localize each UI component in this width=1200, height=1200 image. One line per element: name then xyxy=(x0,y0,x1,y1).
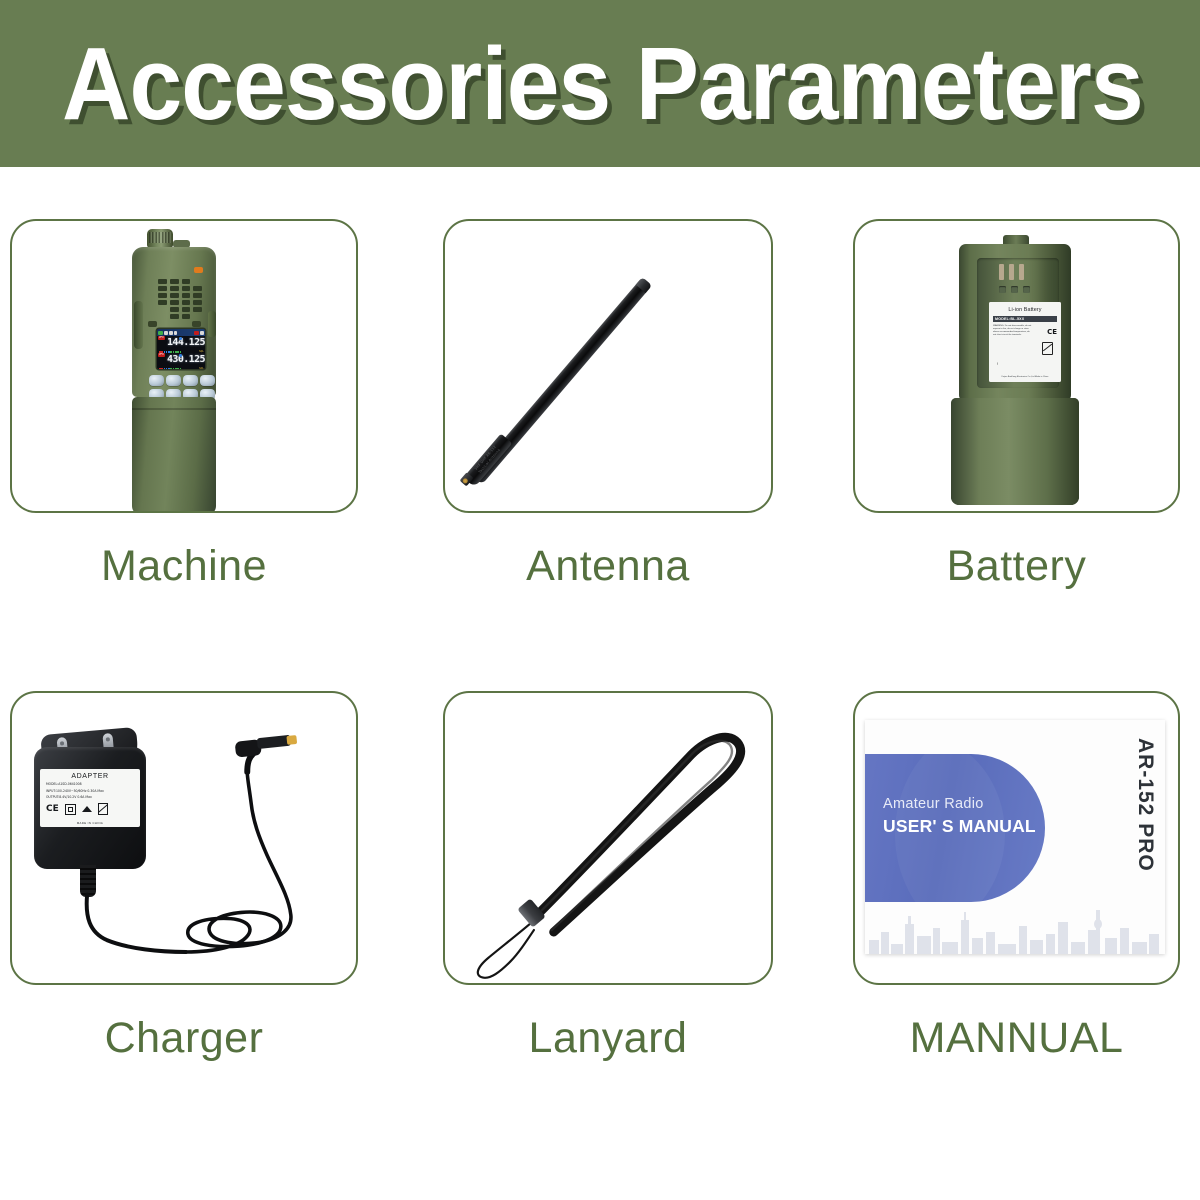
charger-cable xyxy=(12,693,356,984)
wrist-lanyard-icon xyxy=(445,693,771,983)
manual-cover-title: USER' S MANUAL xyxy=(883,816,1036,837)
handheld-radio-icon: VFO 144.12500 SQL VFO xyxy=(124,229,228,513)
li-ion-battery-icon: Li-ion Battery MODEL:BL-5XX WARNING: Do … xyxy=(951,235,1079,505)
user-manual-icon: Amateur Radio USER' S MANUAL AR-152 PRO xyxy=(865,720,1165,954)
vfo-a-tag: VFO xyxy=(158,336,165,340)
charger-illustration: ADAPTER MODEL:A1SD-0641008 INPUT:100-240… xyxy=(12,693,356,983)
accessory-card-battery[interactable]: Li-ion Battery MODEL:BL-5XX WARNING: Do … xyxy=(853,219,1180,513)
battery-illustration: Li-ion Battery MODEL:BL-5XX WARNING: Do … xyxy=(855,221,1178,511)
accessory-label-manual: MANNUAL xyxy=(853,1017,1180,1060)
battery-label-footer: Fujian BaoFeng Electronics Co.,Ltd Made … xyxy=(989,376,1061,379)
battery-vent-holes xyxy=(999,286,1030,293)
side-button-right xyxy=(208,311,216,337)
radio-lcd-screen: VFO 144.12500 SQL VFO xyxy=(157,329,205,369)
accessory-cell-antenna: VHF UHF AR-152 Tactical Antenna Antenna xyxy=(430,219,790,588)
accessory-card-antenna[interactable]: VHF UHF AR-152 Tactical Antenna xyxy=(443,219,773,513)
volume-knob xyxy=(147,229,173,248)
power-adapter-icon: ADAPTER MODEL:A1SD-0641008 INPUT:100-240… xyxy=(12,693,356,983)
weee-bin-icon xyxy=(1042,342,1053,355)
antenna-illustration: VHF UHF AR-152 Tactical Antenna xyxy=(445,221,771,511)
status-bar xyxy=(157,329,205,336)
skyline-graphic xyxy=(865,906,1165,954)
accessories-grid: VFO 144.12500 SQL VFO xyxy=(0,167,1200,1200)
accessory-card-charger[interactable]: ADAPTER MODEL:A1SD-0641008 INPUT:100-240… xyxy=(10,691,358,985)
key-exit xyxy=(200,375,215,386)
side-button-left xyxy=(134,301,143,349)
battery-label-title: Li-ion Battery xyxy=(989,307,1061,313)
vfo-b-frequency: 430.12550 xyxy=(167,354,205,365)
key-menu xyxy=(149,375,164,386)
tactical-antenna-icon: VHF UHF AR-152 Tactical Antenna xyxy=(445,221,771,511)
vfo-b-tag: VFO xyxy=(158,353,165,357)
screw-tab-left xyxy=(148,321,157,327)
vfo-b-squelch: SQL xyxy=(199,366,204,370)
vfo-a-squelch: SQL xyxy=(199,349,204,353)
key-down xyxy=(183,375,198,386)
battery-spec-label: Li-ion Battery MODEL:BL-5XX WARNING: Do … xyxy=(989,302,1061,382)
accessory-label-battery: Battery xyxy=(853,545,1180,588)
accessory-cell-lanyard: Lanyard xyxy=(430,691,790,1060)
page-title: Accessories Parameters xyxy=(62,32,1143,135)
battery-label-model: MODEL:BL-5XX xyxy=(993,316,1057,322)
manual-cover-subtitle: Amateur Radio xyxy=(883,796,984,812)
radio-battery-pack xyxy=(132,397,216,513)
manual-illustration: Amateur Radio USER' S MANUAL AR-152 PRO xyxy=(855,693,1178,983)
accessory-label-machine: Machine xyxy=(10,545,358,588)
vfo-a-frequency: 144.12500 xyxy=(167,337,205,348)
ce-mark-icon: CE xyxy=(1047,328,1057,336)
key-up xyxy=(166,375,181,386)
vfo-b-signal-bars xyxy=(159,368,181,369)
accessory-card-lanyard[interactable] xyxy=(443,691,773,985)
accessory-cell-machine: VFO 144.12500 SQL VFO xyxy=(10,219,370,588)
screw-tab-right xyxy=(192,321,201,327)
machine-illustration: VFO 144.12500 SQL VFO xyxy=(12,221,356,511)
radio-upper-body: VFO 144.12500 SQL VFO xyxy=(132,247,216,397)
accessory-cell-manual: Amateur Radio USER' S MANUAL AR-152 PRO xyxy=(840,691,1200,1060)
vfo-a-row: VFO 144.12500 SQL xyxy=(157,336,205,353)
battery-label-warning: WARNING: Do not disassemble, do not expo… xyxy=(993,325,1033,337)
accessory-cell-battery: Li-ion Battery MODEL:BL-5XX WARNING: Do … xyxy=(840,219,1200,588)
accessory-cell-charger: ADAPTER MODEL:A1SD-0641008 INPUT:100-240… xyxy=(10,691,370,1060)
accessory-label-charger: Charger xyxy=(10,1017,358,1060)
accessory-card-machine[interactable]: VFO 144.12500 SQL VFO xyxy=(10,219,358,513)
manual-cover-model: AR-152 PRO xyxy=(1133,738,1157,872)
vfo-a-dot xyxy=(179,337,182,340)
battery-lower-block xyxy=(951,398,1079,505)
accessory-card-manual[interactable]: Amateur Radio USER' S MANUAL AR-152 PRO xyxy=(853,691,1180,985)
page-header-band: Accessories Parameters xyxy=(0,0,1200,167)
battery-upper-shell: Li-ion Battery MODEL:BL-5XX WARNING: Do … xyxy=(959,244,1071,402)
battery-contacts xyxy=(999,264,1024,280)
ptt-indicator xyxy=(194,267,203,273)
speaker-grille xyxy=(158,279,202,319)
lanyard-illustration xyxy=(445,693,771,983)
lanyard-strap xyxy=(445,693,771,983)
accessory-label-lanyard: Lanyard xyxy=(443,1017,773,1060)
accessory-label-antenna: Antenna xyxy=(443,545,773,588)
warning-triangle-icon xyxy=(995,361,1003,368)
vfo-b-row: VFO 430.12550 SQL xyxy=(157,353,205,369)
vfo-b-dot xyxy=(179,354,182,357)
